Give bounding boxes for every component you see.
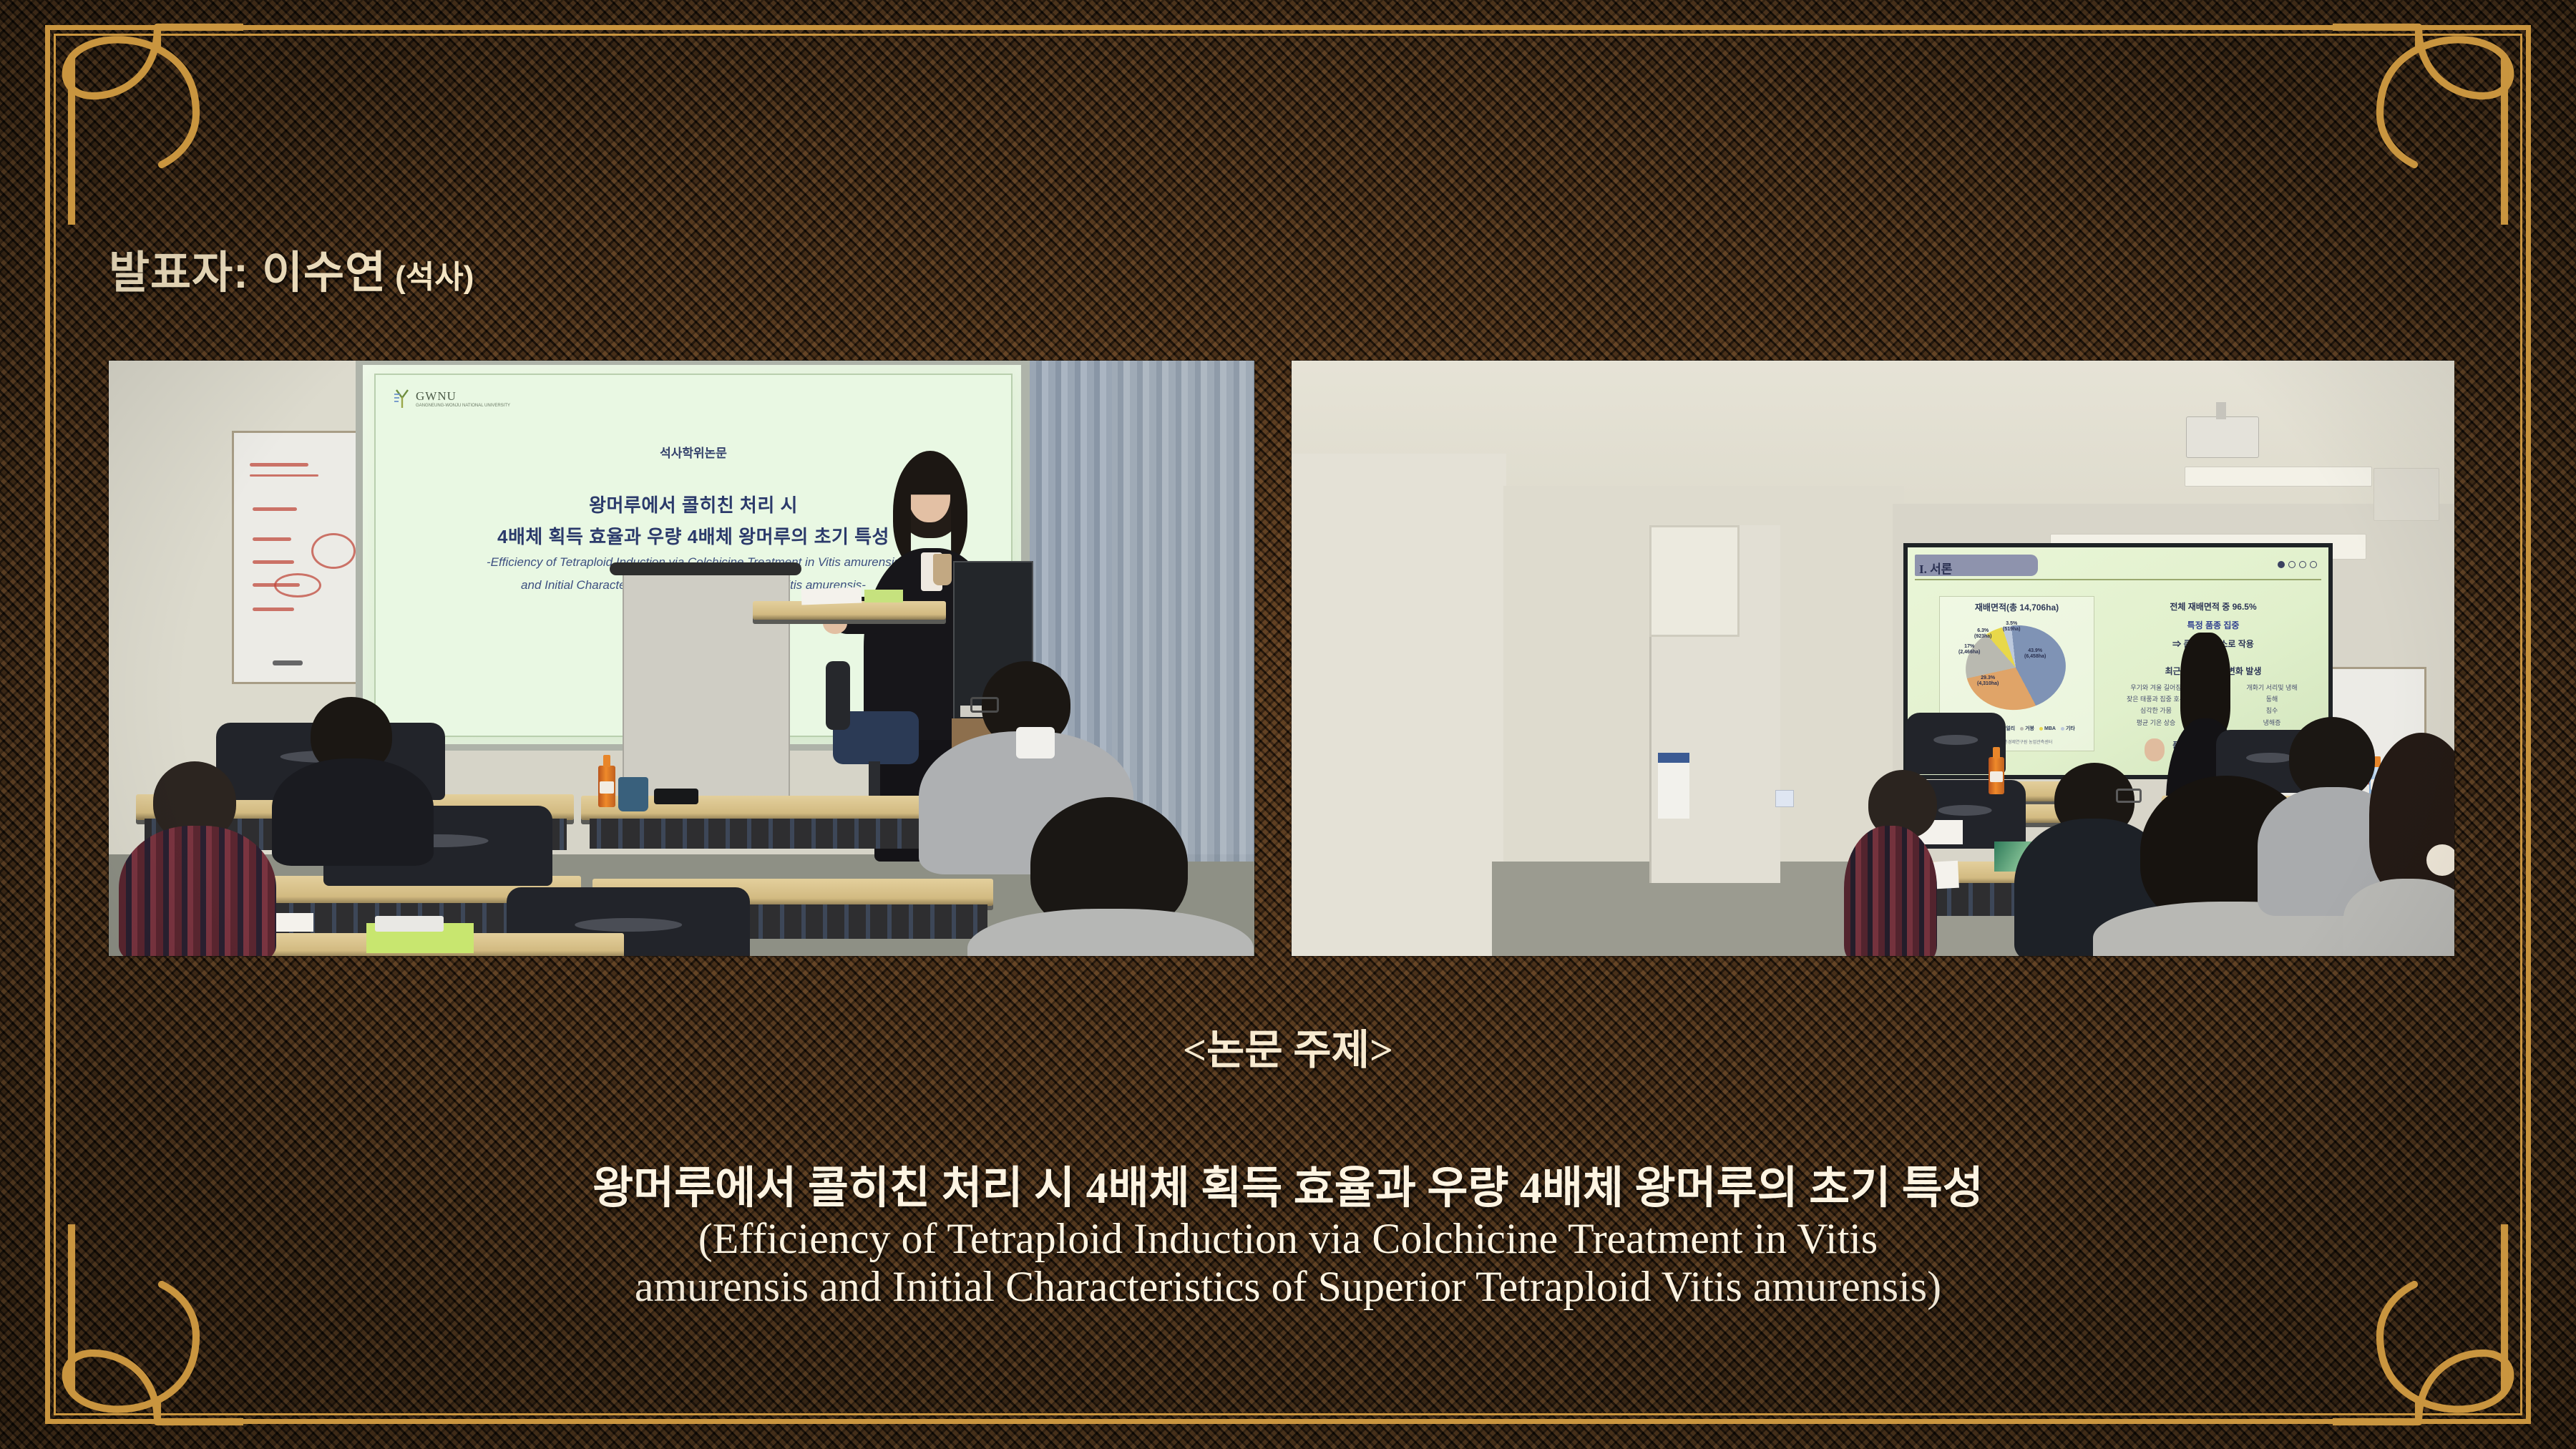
whiteboard: [232, 431, 366, 684]
page-dot: [2288, 561, 2296, 568]
thesis-title-english-line1: (Efficiency of Tetraploid Induction via …: [107, 1215, 2469, 1263]
phone-front: [375, 916, 444, 932]
photo-left: GWNU GANGNEUNG-WONJU NATIONAL UNIVERSITY…: [109, 361, 1254, 956]
pie-label-0: 43.9%(6,458ha): [2024, 648, 2046, 660]
whiteboard-circle: [274, 573, 321, 597]
mug: [618, 777, 648, 811]
glasses-icon: [970, 697, 999, 713]
photo-row: GWNU GANGNEUNG-WONJU NATIONAL UNIVERSITY…: [109, 361, 2454, 956]
legend-label: 기타: [2066, 725, 2075, 732]
presenter-degree: (석사): [395, 260, 474, 295]
presenter-papers: [801, 587, 862, 605]
slide-effects-right: 개화기 서리및 냉해 동해 침수 냉해증: [2225, 682, 2318, 728]
effect-item: 침수: [2225, 705, 2318, 716]
whiteboard-note: [253, 560, 294, 564]
door-transom: [1649, 525, 1740, 637]
effect-item: 동해: [2225, 693, 2318, 705]
presenter-note: [864, 590, 903, 602]
door-notice: [1658, 753, 1689, 819]
pie-label-3: 6.3%(923ha): [1974, 628, 1992, 640]
page-dot-active: [2278, 561, 2285, 568]
whiteboard-note: [250, 474, 318, 477]
thesis-title-english-line2: amurensis and Initial Characteristics of…: [107, 1263, 2469, 1311]
audience-shirt-collar: [1016, 727, 1055, 758]
effect-item: 개화기 서리및 냉해: [2225, 682, 2318, 693]
page-dot: [2299, 561, 2306, 568]
drink-bottle: [1989, 757, 2004, 794]
slide-text-1: 전체 재배면적 중 96.5%: [2108, 600, 2318, 613]
ceiling-light: [2185, 467, 2372, 487]
gwnu-mark-icon: [393, 388, 411, 409]
slide-page-dots: [2278, 561, 2317, 568]
presentation-slide: GWNU GANGNEUNG-WONJU NATIONAL UNIVERSITY…: [0, 0, 2576, 1449]
presenter-caption: 발표자: 이수연(석사): [109, 236, 474, 301]
classroom-scene-left: GWNU GANGNEUNG-WONJU NATIONAL UNIVERSITY…: [109, 361, 1254, 956]
gwnu-logo-subtext: GANGNEUNG-WONJU NATIONAL UNIVERSITY: [416, 404, 510, 409]
door-switch: [1775, 790, 1794, 807]
thesis-title-block: 왕머루에서 콜히친 처리 시 4배체 획득 효율과 우량 4배체 왕머루의 초기…: [107, 1163, 2469, 1312]
audience-body-plaid: [1844, 826, 1937, 956]
pie-label-4: 3.5%(519ha): [2003, 621, 2021, 633]
chart-title: 재배면적(총 14,706ha): [1940, 601, 2094, 613]
whiteboard-note: [253, 608, 294, 611]
topic-label: <논문 주제>: [0, 1016, 2576, 1076]
whiteboard-note: [250, 463, 308, 467]
whiteboard-tray: [273, 660, 303, 665]
presenter-table: [753, 601, 946, 620]
audience-body-plaid: [119, 826, 276, 956]
page-dot: [2310, 561, 2317, 568]
whiteboard-note: [253, 537, 291, 541]
office-chair-back: [826, 661, 850, 730]
slide-rule: [1915, 579, 2321, 580]
slide-text-2: 특정 품종 집중: [2108, 619, 2318, 631]
drink-bottle: [598, 766, 615, 807]
classroom-scene-right: I. 서론 재배면적(총 14,706ha) 43.9%(: [1292, 361, 2454, 956]
gwnu-logo: GWNU GANGNEUNG-WONJU NATIONAL UNIVERSITY: [393, 388, 510, 409]
legend-label: MBA: [2044, 726, 2056, 731]
pie-label-1: 29.3%(4,310ha): [1977, 675, 1999, 687]
audience-body: [272, 758, 434, 866]
whiteboard-note: [253, 507, 297, 511]
gwnu-logo-text: GWNU: [416, 389, 510, 404]
pie-label-2: 17%(2,466ha): [1958, 644, 1980, 655]
legend-item: MBA: [2039, 725, 2056, 732]
lectern-rail: [610, 562, 801, 575]
projector-mount: [2216, 402, 2226, 419]
cup: [933, 554, 952, 585]
whiteboard-circle: [311, 533, 356, 569]
legend-item: 기타: [2061, 725, 2075, 732]
glasses-icon: [2116, 789, 2142, 803]
audience-body-right-front: [2343, 879, 2454, 956]
presenter-name: 발표자: 이수연: [109, 248, 386, 298]
photo-right: I. 서론 재배면적(총 14,706ha) 43.9%(: [1292, 361, 2454, 956]
phone: [654, 789, 698, 804]
thesis-title-korean: 왕머루에서 콜히친 처리 시 4배체 획득 효율과 우량 4배체 왕머루의 초기…: [107, 1163, 2469, 1215]
wall-left: [1292, 454, 1506, 956]
ceiling-projector: [2186, 416, 2259, 458]
presenter-hand: [2145, 738, 2165, 761]
ceiling-vent: [2373, 468, 2439, 521]
legend-item: 거봉: [2020, 725, 2034, 732]
hair-tie: [2426, 844, 2454, 876]
desk-row1-right-skirt: [590, 819, 962, 849]
slide-section-title: I. 서론: [1919, 559, 1952, 577]
legend-label: 거봉: [2025, 725, 2034, 732]
